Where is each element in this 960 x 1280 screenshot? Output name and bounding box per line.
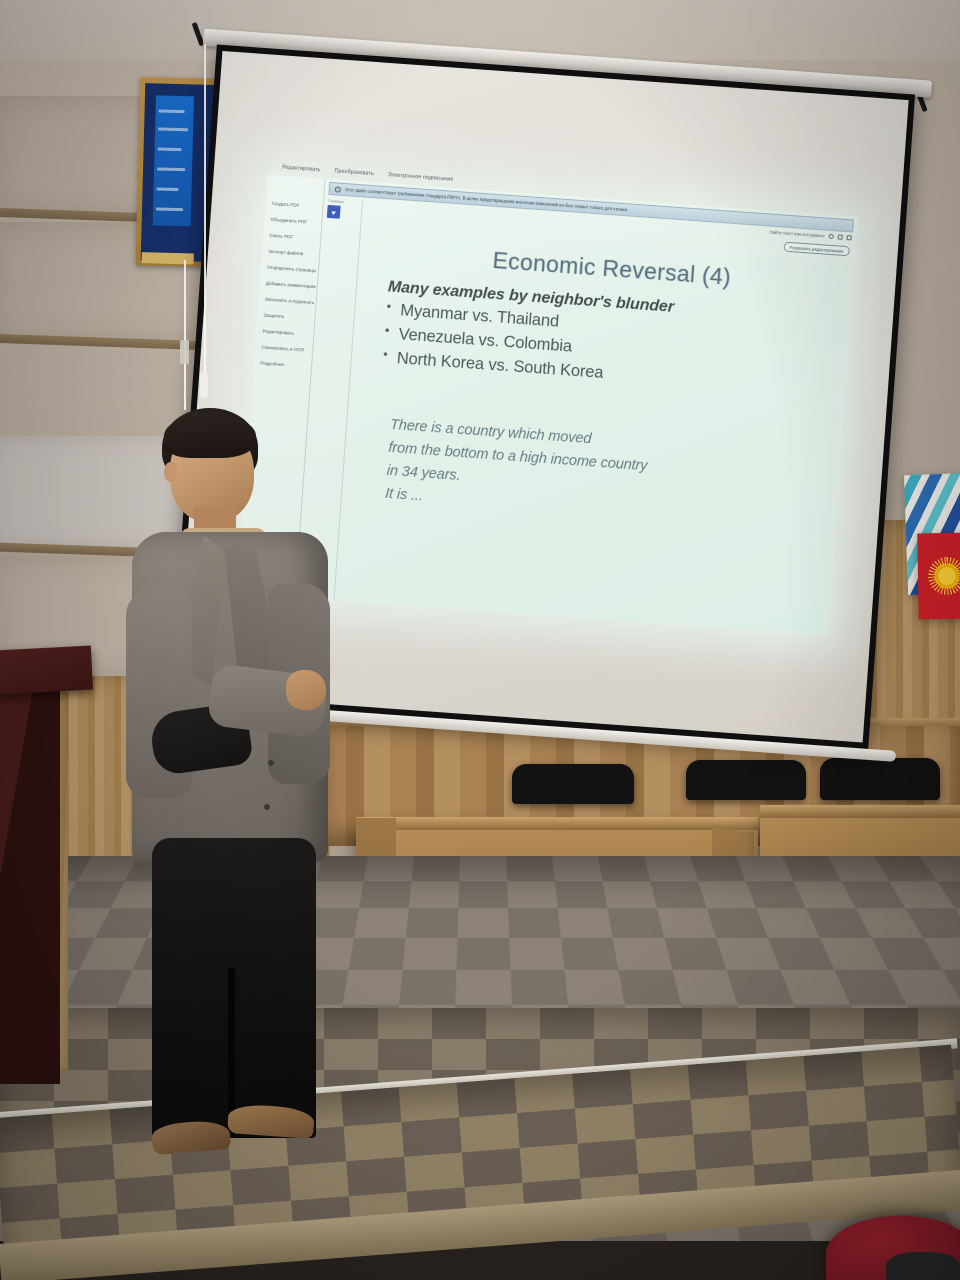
info-icon: i — [335, 186, 341, 192]
chair — [512, 764, 634, 804]
flag-sun-emblem — [932, 561, 960, 592]
cord-tag-secondary[interactable] — [180, 340, 189, 364]
cord-tag[interactable] — [200, 372, 208, 398]
sidebar-item-protect[interactable]: Защитить — [257, 312, 314, 321]
presenter — [118, 408, 348, 1168]
sidebar-item-export[interactable]: Экспорт файлов — [262, 248, 319, 257]
sidebar-item-fill-sign[interactable]: Заполнить и подписать — [259, 296, 316, 305]
kyrgyzstan-flag — [917, 533, 960, 620]
menu-item-convert[interactable]: Преобразовать — [334, 168, 374, 177]
sidebar-item-organize-pages[interactable]: Упорядочить страницы — [261, 264, 318, 273]
enable-editing-button[interactable]: Разрешить редактирование — [783, 242, 850, 257]
sidebar-item-comments[interactable]: Добавить комментарии — [260, 280, 317, 289]
app-main: i Этот файл соответствует требованиям ст… — [296, 179, 859, 636]
sidebar-item-edit[interactable]: Редактировать — [256, 328, 313, 337]
sidebar-item-create-pdf[interactable]: Создать PDF — [265, 200, 322, 209]
lecture-hall-photo: Редактировать Преобразовать Электронное … — [0, 0, 960, 1280]
sidebar-item-combine-pdf[interactable]: Объединить PDF — [264, 216, 321, 225]
screen-pull-cord[interactable] — [204, 44, 206, 374]
window-icon[interactable] — [838, 234, 843, 239]
slide-page: Economic Reversal (4) Many examples by n… — [340, 228, 849, 634]
sidebar-item-compress-pdf[interactable]: Сжать PDF — [263, 232, 320, 241]
jacket-button — [268, 760, 274, 766]
presenter-hair-front — [164, 414, 256, 458]
presenter-ear — [164, 462, 177, 482]
settings-icon[interactable] — [847, 235, 852, 240]
presenter-hand — [286, 670, 326, 710]
search-input[interactable]: Найти текст или инструмент — [770, 230, 825, 239]
menu-item-esign[interactable]: Электронное подписание — [388, 172, 454, 183]
red-chair-arm — [886, 1252, 960, 1280]
page-thumbnail[interactable] — [327, 205, 341, 219]
screen-pull-cord-secondary[interactable] — [184, 260, 186, 410]
desk-top — [356, 817, 758, 830]
page-thumbnail-panel: Страницы — [325, 199, 360, 220]
desk-top — [760, 805, 960, 818]
sidebar-item-scan-ocr[interactable]: Сканировать и OCR — [255, 344, 312, 353]
sidebar-item-more[interactable]: Подробнее — [254, 360, 311, 369]
search-icon[interactable] — [829, 234, 834, 239]
slide-note: There is a country which moved from the … — [372, 413, 821, 536]
jacket-button — [264, 804, 270, 810]
podium-body — [0, 684, 60, 1084]
podium-top — [0, 646, 93, 695]
menu-item-edit[interactable]: Редактировать — [282, 164, 321, 173]
